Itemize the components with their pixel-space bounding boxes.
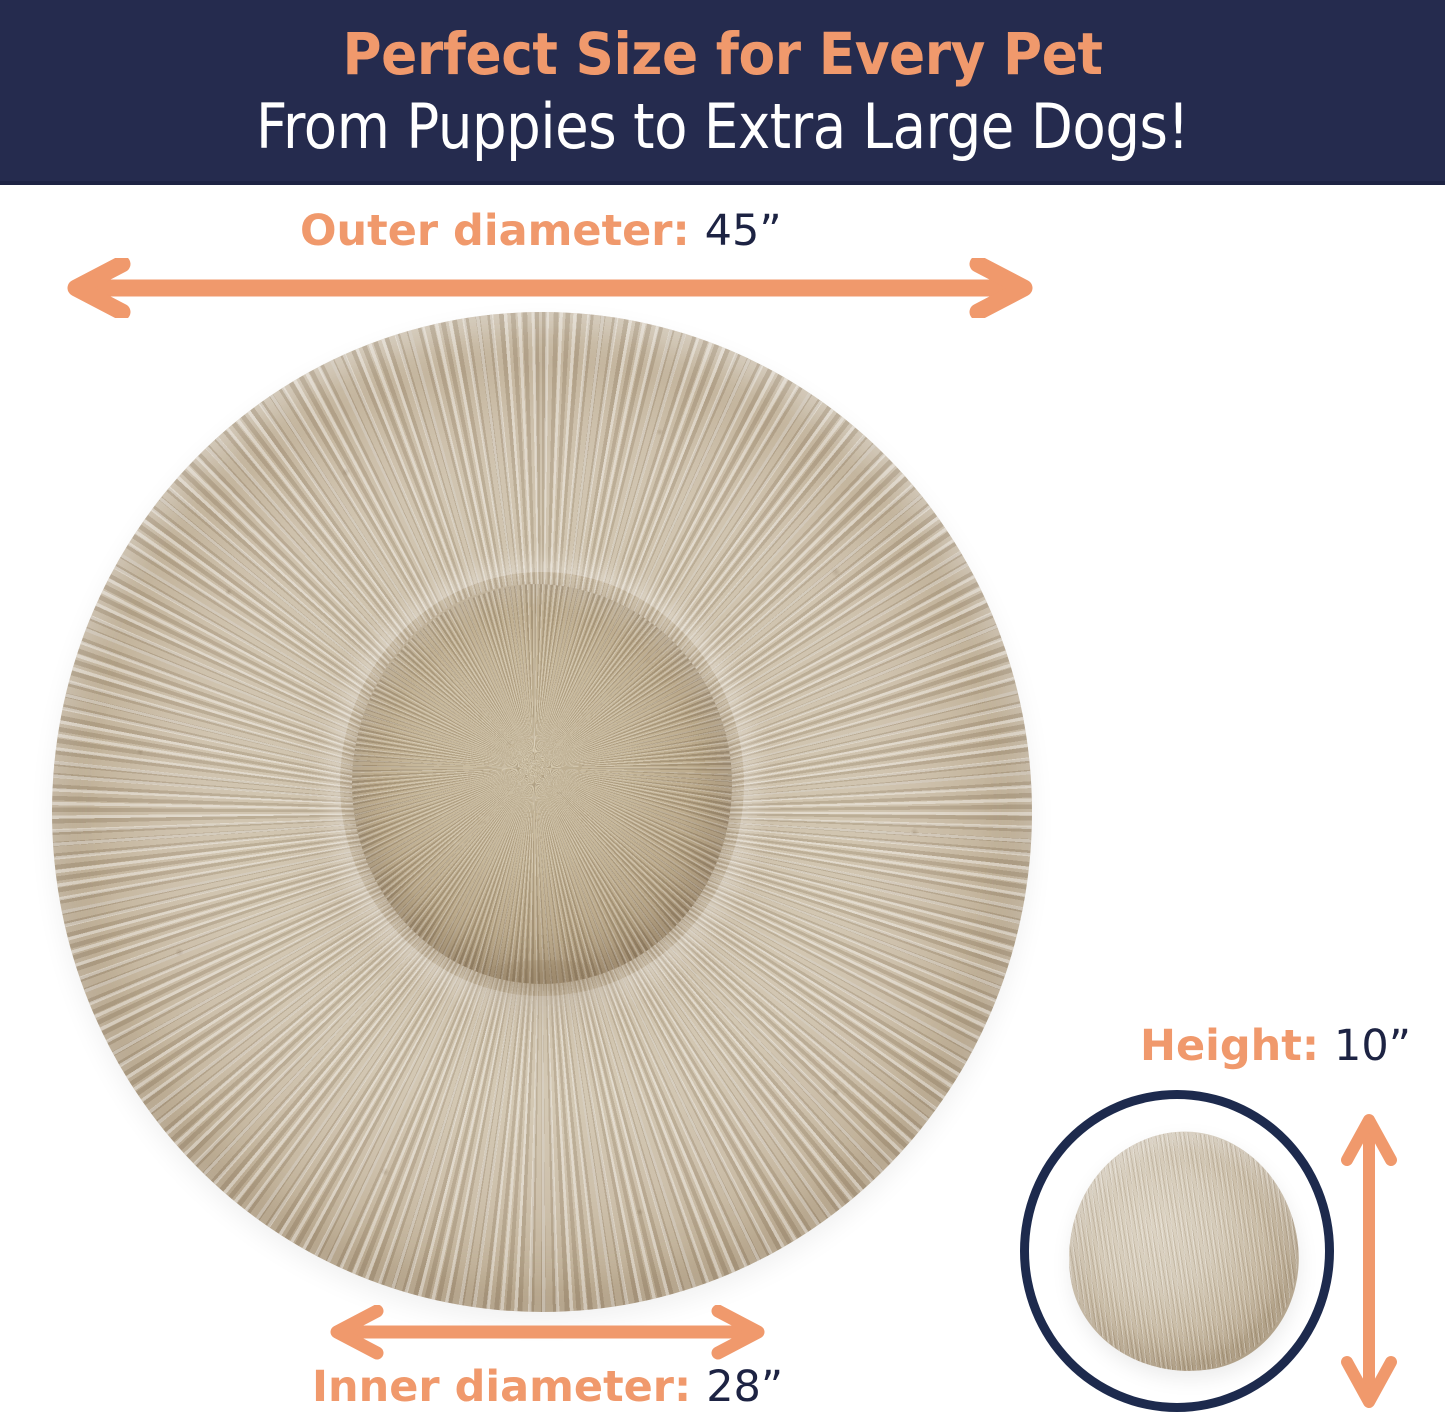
page-subtitle: From Puppies to Extra Large Dogs! (87, 90, 1359, 163)
inner-diameter-label: Inner diameter: 28” (312, 1362, 783, 1412)
bed-inner-cushion (352, 584, 732, 984)
pet-bed-side-view-inset (1020, 1090, 1334, 1412)
infographic-canvas: Perfect Size for Every Pet From Puppies … (0, 0, 1445, 1421)
inner-diameter-arrow-icon (325, 1305, 770, 1360)
inner-diameter-value: 28” (706, 1362, 783, 1412)
height-label: Height: 10” (1140, 1021, 1411, 1071)
page-title: Perfect Size for Every Pet (58, 20, 1387, 88)
height-label-text: Height: (1140, 1021, 1319, 1071)
height-arrow-icon (1338, 1110, 1400, 1412)
height-value: 10” (1334, 1021, 1411, 1071)
pet-bed-main-image (52, 312, 1032, 1312)
inner-fur-texture-light (352, 584, 732, 984)
outer-diameter-arrow-icon (60, 258, 1040, 318)
outer-diameter-value: 45” (705, 206, 782, 256)
outer-diameter-label: Outer diameter: 45” (300, 206, 782, 256)
header-band: Perfect Size for Every Pet From Puppies … (0, 0, 1445, 185)
bed-outer-rim (52, 312, 1032, 1312)
outer-diameter-label-text: Outer diameter: (300, 206, 690, 256)
inner-diameter-label-text: Inner diameter: (312, 1362, 691, 1412)
